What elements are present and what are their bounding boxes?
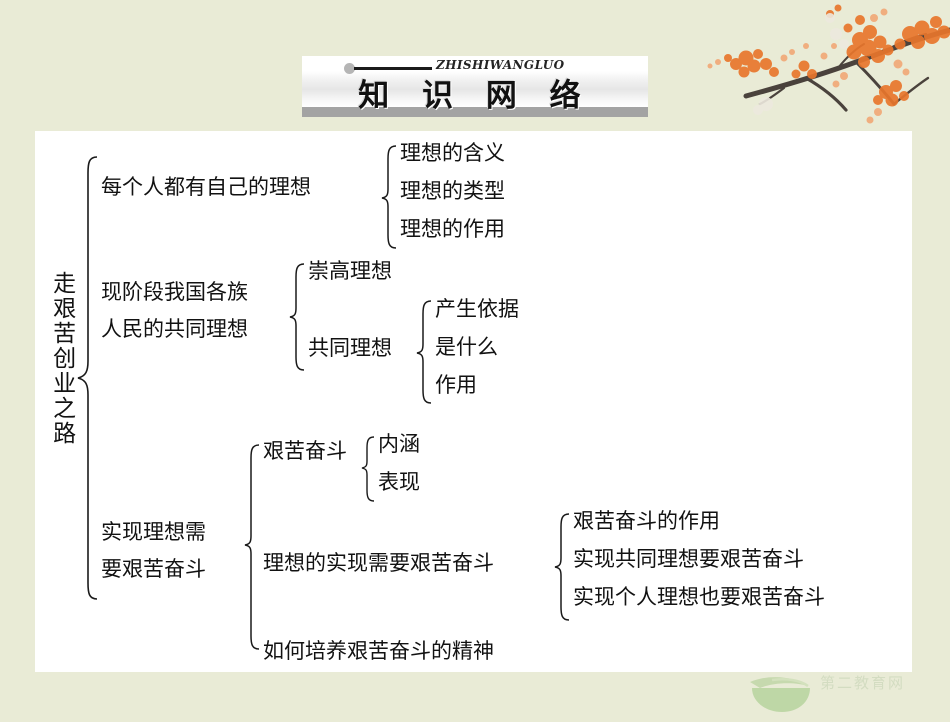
branch-3-label-line1: 实现理想需 (101, 518, 206, 548)
brace-branch-2 (288, 262, 308, 372)
branch-1-child-2: 理想的类型 (400, 177, 505, 207)
brace-root (75, 155, 101, 601)
branch-2-label-line2: 人民的共同理想 (101, 315, 248, 345)
diagram-root-node: 走艰苦创业之路 (45, 271, 78, 521)
plum-blossom-branch (688, 0, 950, 132)
content-panel: 走艰苦创业之路 每个人都有自己的理想 理想的含义 理想的类型 理想的作用 现阶段… (35, 131, 912, 672)
watermark-text: 第二教育网 (820, 674, 905, 692)
brace-branch-3 (243, 443, 263, 651)
branch-3-child-3: 如何培养艰苦奋斗的精神 (263, 637, 494, 667)
branch-1-label: 每个人都有自己的理想 (101, 173, 311, 203)
branch-3-label-line2: 要艰苦奋斗 (101, 555, 206, 585)
branch-3-child-1: 艰苦奋斗 (263, 437, 347, 467)
branch-3-child-2: 理想的实现需要艰苦奋斗 (263, 549, 494, 579)
branch-3-child-2-grandchild-3: 实现个人理想也要艰苦奋斗 (573, 583, 825, 613)
branch-3-child-1-grandchild-2: 表现 (378, 468, 420, 498)
branch-1-child-1: 理想的含义 (400, 139, 505, 169)
section-header-banner: ZHISHIWANGLUO 知 识 网 络 (302, 56, 648, 117)
branch-2-grandchild-1: 产生依据 (435, 295, 519, 325)
branch-3-child-2-grandchild-2: 实现共同理想要艰苦奋斗 (573, 545, 804, 575)
brace-branch-3-child-1 (360, 435, 378, 503)
branch-1-child-3: 理想的作用 (400, 215, 505, 245)
brace-branch-2-child-2 (415, 299, 435, 405)
branch-2-label-line1: 现阶段我国各族 (101, 278, 248, 308)
branch-2-grandchild-2: 是什么 (435, 333, 498, 363)
footer-watermark: 第二教育网 (742, 668, 942, 718)
brace-branch-1 (380, 144, 400, 250)
page-title: 知 识 网 络 (302, 70, 648, 115)
branch-2-grandchild-3: 作用 (435, 371, 477, 401)
branch-2-child-2: 共同理想 (308, 334, 392, 364)
knowledge-network-diagram: 走艰苦创业之路 每个人都有自己的理想 理想的含义 理想的类型 理想的作用 现阶段… (35, 131, 912, 672)
branch-3-child-2-grandchild-1: 艰苦奋斗的作用 (573, 507, 720, 537)
branch-2-child-1: 崇高理想 (308, 257, 392, 287)
branch-3-child-1-grandchild-1: 内涵 (378, 430, 420, 460)
brace-branch-3-child-2 (553, 512, 573, 622)
